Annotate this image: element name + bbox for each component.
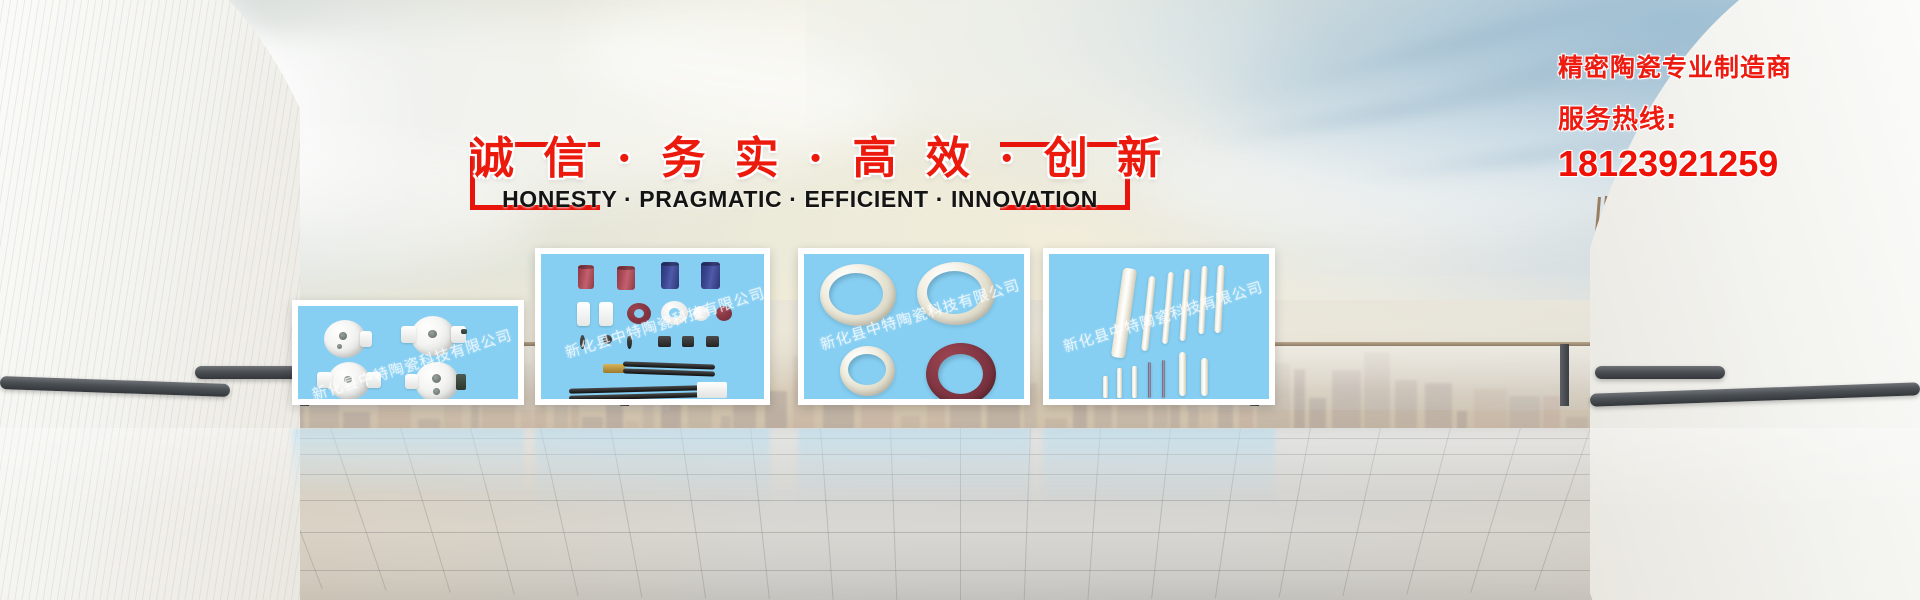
ceramic-rod-small bbox=[1179, 352, 1186, 396]
product-panel-ceramic-rods[interactable]: 新化县中特陶瓷科技有限公司 bbox=[1043, 248, 1275, 405]
product-panel-ceramic-tubes[interactable]: 新化县中特陶瓷科技有限公司 bbox=[535, 248, 770, 405]
panel-image-area: 新化县中特陶瓷科技有限公司 bbox=[298, 306, 518, 399]
tube-rim bbox=[661, 262, 679, 266]
ceramic-socket bbox=[324, 320, 366, 358]
black-wire bbox=[623, 368, 715, 376]
ceramic-cap-maroon bbox=[716, 306, 732, 321]
sealing-ring-maroon bbox=[627, 303, 651, 324]
panel-watermark: 新化县中特陶瓷科技有限公司 bbox=[1060, 276, 1265, 357]
ceramic-rod-large bbox=[1111, 267, 1137, 358]
socket-tab bbox=[360, 331, 372, 347]
wire-connector-gold bbox=[603, 364, 625, 373]
ceramic-plate bbox=[599, 302, 613, 326]
ring-bore bbox=[669, 308, 680, 318]
hero-banner: 诚 信 · 务 实 · 高 效 · 创 新 HONESTY · PRAGMATI… bbox=[0, 0, 1920, 600]
ceramic-rod bbox=[1198, 266, 1208, 334]
ceramic-ring-small bbox=[840, 346, 895, 396]
product-panel-ceramic-lamp-sockets[interactable]: 新化县中特陶瓷科技有限公司 bbox=[292, 300, 524, 405]
ceramic-rod bbox=[1162, 272, 1174, 344]
ceramic-rod-small bbox=[1132, 366, 1137, 398]
metal-clip bbox=[580, 335, 585, 349]
ceramic-ring-large-left bbox=[820, 264, 896, 326]
ceramic-pin-dark bbox=[1162, 360, 1165, 398]
product-panel-ceramic-rings[interactable]: 新化县中特陶瓷科技有限公司 bbox=[798, 248, 1030, 405]
ceramic-cap-white bbox=[693, 306, 709, 321]
socket-hole bbox=[428, 330, 437, 338]
socket-hole bbox=[339, 332, 347, 340]
ceramic-socket bbox=[415, 362, 459, 399]
ceramic-tube-blue bbox=[701, 262, 720, 289]
ceramic-rod-small bbox=[1103, 376, 1108, 398]
ceramic-socket bbox=[411, 316, 455, 356]
socket-hole bbox=[433, 388, 440, 395]
ring-bore bbox=[848, 354, 886, 385]
ceramic-ring-wine bbox=[926, 343, 996, 399]
metal-terminal bbox=[706, 336, 719, 347]
ceramic-tube-red bbox=[617, 266, 635, 290]
ceramic-rod bbox=[1214, 265, 1225, 333]
panel-image-area: 新化县中特陶瓷科技有限公司 bbox=[541, 254, 764, 399]
panel-image-area: 新化县中特陶瓷科技有限公司 bbox=[804, 254, 1024, 399]
socket-hole bbox=[344, 376, 352, 383]
black-wire bbox=[569, 392, 699, 399]
socket-tab bbox=[401, 326, 416, 343]
ceramic-tube-blue bbox=[661, 262, 679, 289]
ceramic-ring-large-right bbox=[917, 262, 995, 325]
socket-hole bbox=[432, 374, 441, 383]
metal-clip bbox=[627, 335, 632, 349]
ceramic-rod bbox=[1179, 269, 1190, 341]
ceramic-rod-small bbox=[1201, 358, 1208, 396]
ceramic-rod bbox=[1141, 276, 1156, 351]
ring-bore bbox=[927, 271, 982, 314]
ceramic-ring-white bbox=[661, 301, 688, 325]
ceramic-rod-small bbox=[1117, 368, 1122, 398]
tube-rim bbox=[701, 262, 720, 266]
tube-rim bbox=[617, 266, 635, 270]
metal-clip bbox=[603, 335, 612, 344]
ring-bore bbox=[634, 309, 644, 318]
wire-connector-white bbox=[697, 382, 727, 398]
metal-terminal bbox=[682, 336, 694, 347]
metal-terminal bbox=[658, 336, 671, 347]
product-panel-row: 新化县中特陶瓷科技有限公司 bbox=[0, 0, 1920, 600]
socket-pin bbox=[456, 374, 466, 390]
ring-bore bbox=[829, 273, 883, 315]
panel-watermark: 新化县中特陶瓷科技有限公司 bbox=[562, 282, 764, 363]
tube-rim bbox=[578, 265, 594, 269]
ceramic-pin-dark bbox=[1148, 362, 1151, 398]
socket-pin bbox=[461, 329, 467, 334]
ceramic-tube-red bbox=[578, 265, 594, 289]
ceramic-socket bbox=[328, 362, 370, 399]
socket-hole bbox=[337, 344, 342, 349]
ceramic-plate bbox=[577, 302, 590, 326]
socket-tab bbox=[317, 372, 332, 388]
ring-bore bbox=[938, 354, 983, 394]
socket-tab bbox=[405, 374, 418, 389]
socket-tab bbox=[366, 372, 381, 388]
panel-image-area: 新化县中特陶瓷科技有限公司 bbox=[1049, 254, 1269, 399]
